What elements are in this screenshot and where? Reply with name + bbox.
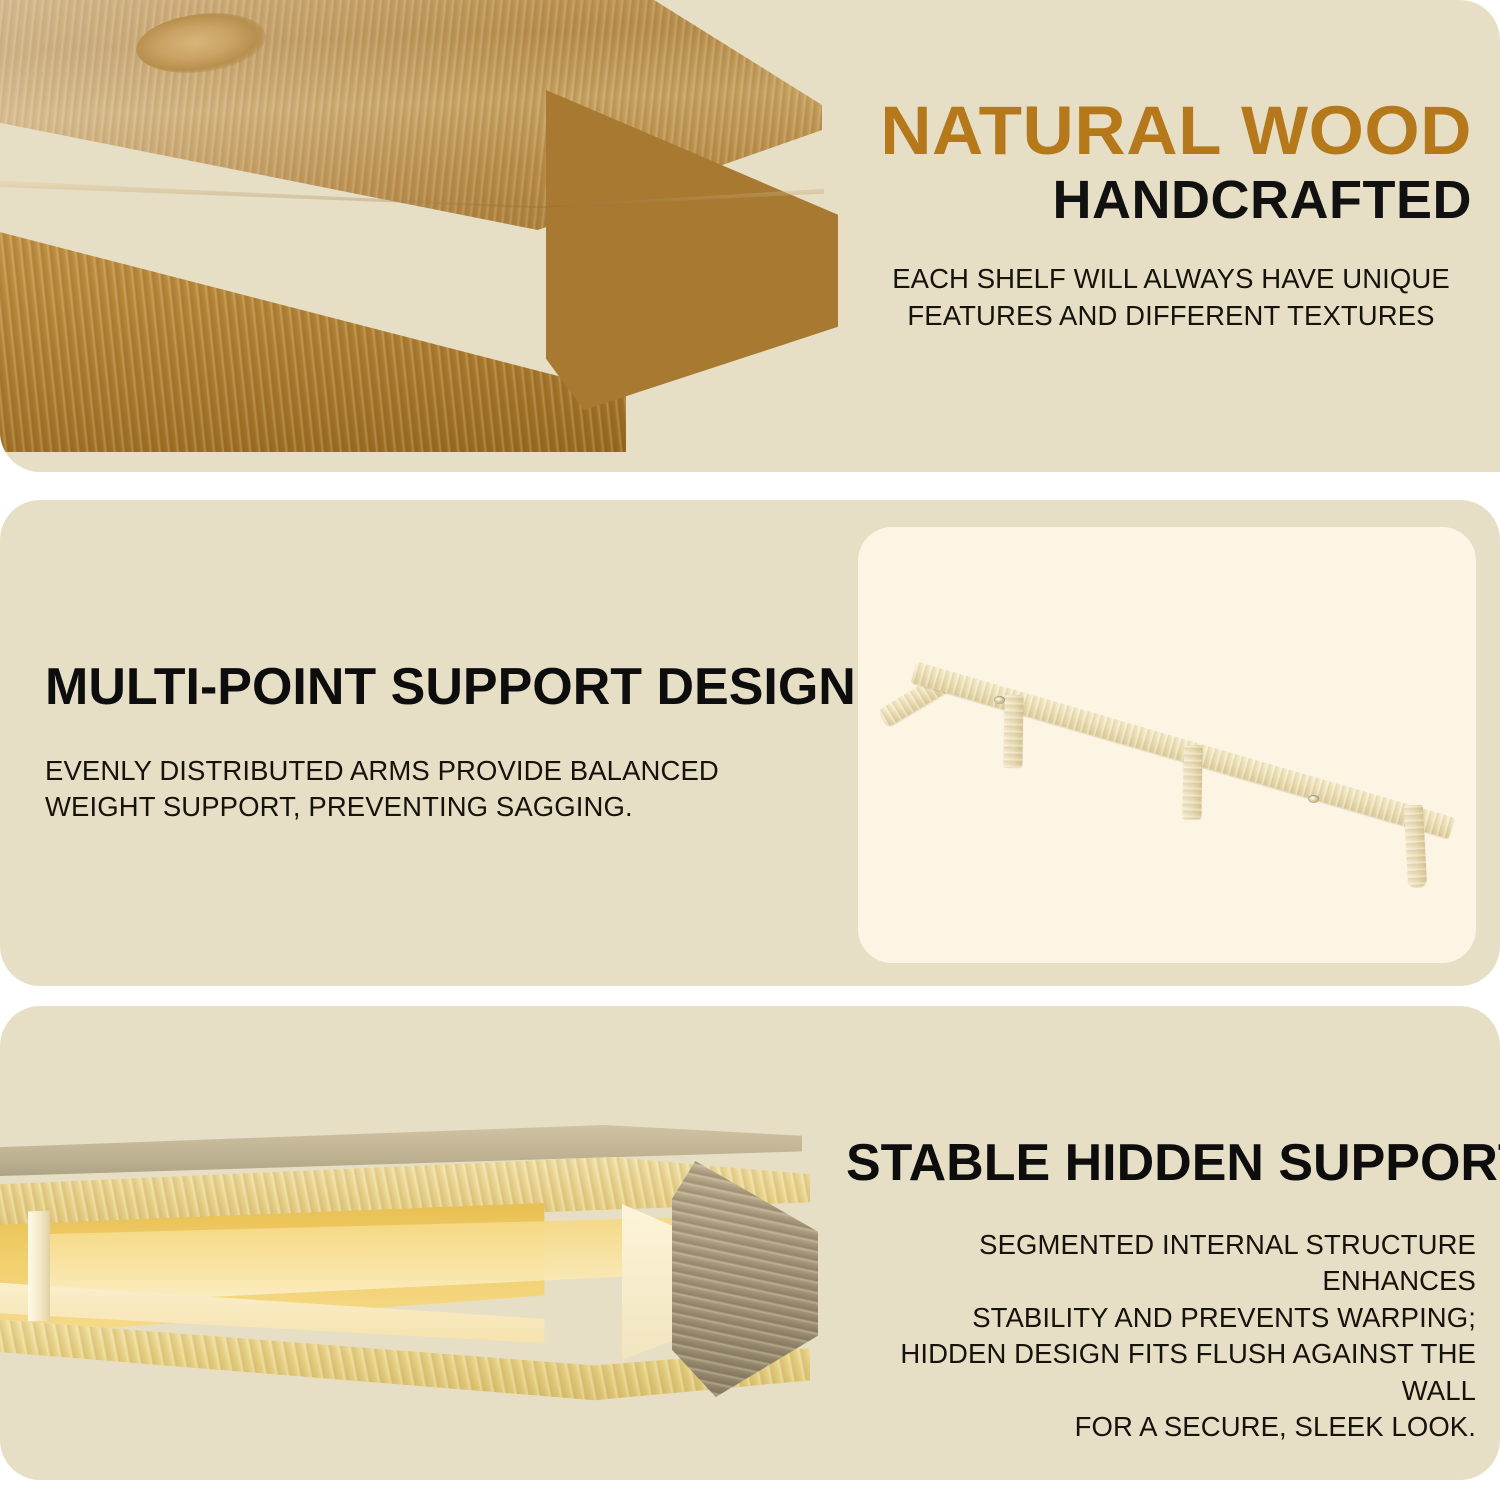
description-line-2: STABILITY AND PREVENTS WARPING; [846,1300,1476,1337]
bracket-screw-hole-2 [1308,795,1319,803]
description-line-2: WEIGHT SUPPORT, PREVENTING SAGGING. [45,789,805,826]
headline-stable-hidden-support: STABLE HIDDEN SUPPORT [846,1136,1476,1191]
description-line-1: SEGMENTED INTERNAL STRUCTURE ENHANCES [846,1227,1476,1300]
multi-point-description: EVENLY DISTRIBUTED ARMS PROVIDE BALANCED… [45,753,805,826]
headline-multi-point-support: MULTI-POINT SUPPORT DESIGN [45,660,805,715]
bracket-support-arm-2 [1182,745,1202,819]
natural-wood-text-block: NATURAL WOOD HANDCRAFTED EACH SHELF WILL… [852,96,1472,334]
panel-natural-wood: NATURAL WOOD HANDCRAFTED EACH SHELF WILL… [0,0,1500,472]
bracket-screw-hole-1 [994,696,1005,704]
description-line-2: FEATURES AND DIFFERENT TEXTURES [870,298,1472,335]
multi-point-text-block: MULTI-POINT SUPPORT DESIGN EVENLY DISTRI… [45,660,805,826]
hollow-shelf-image [0,1125,832,1445]
stable-hidden-description: SEGMENTED INTERNAL STRUCTURE ENHANCES ST… [846,1227,1476,1446]
infographic-page: NATURAL WOOD HANDCRAFTED EACH SHELF WILL… [0,0,1500,1489]
wood-beam-image [0,0,836,450]
description-line-1: EACH SHELF WILL ALWAYS HAVE UNIQUE [870,261,1472,298]
bracket-support-arm-1 [1003,695,1023,767]
stable-hidden-text-block: STABLE HIDDEN SUPPORT SEGMENTED INTERNAL… [846,1136,1476,1446]
shelf-internal-divider [28,1211,50,1322]
description-line-1: EVENLY DISTRIBUTED ARMS PROVIDE BALANCED [45,753,805,790]
bracket-image-card [858,527,1476,963]
description-line-4: FOR A SECURE, SLEEK LOOK. [846,1409,1476,1446]
description-line-3: HIDDEN DESIGN FITS FLUSH AGAINST THE WAL… [846,1336,1476,1409]
wall-bracket-image [876,655,1476,945]
headline-handcrafted: HANDCRAFTED [852,173,1472,227]
headline-natural-wood: NATURAL WOOD [833,96,1472,165]
natural-wood-description: EACH SHELF WILL ALWAYS HAVE UNIQUE FEATU… [852,261,1472,334]
